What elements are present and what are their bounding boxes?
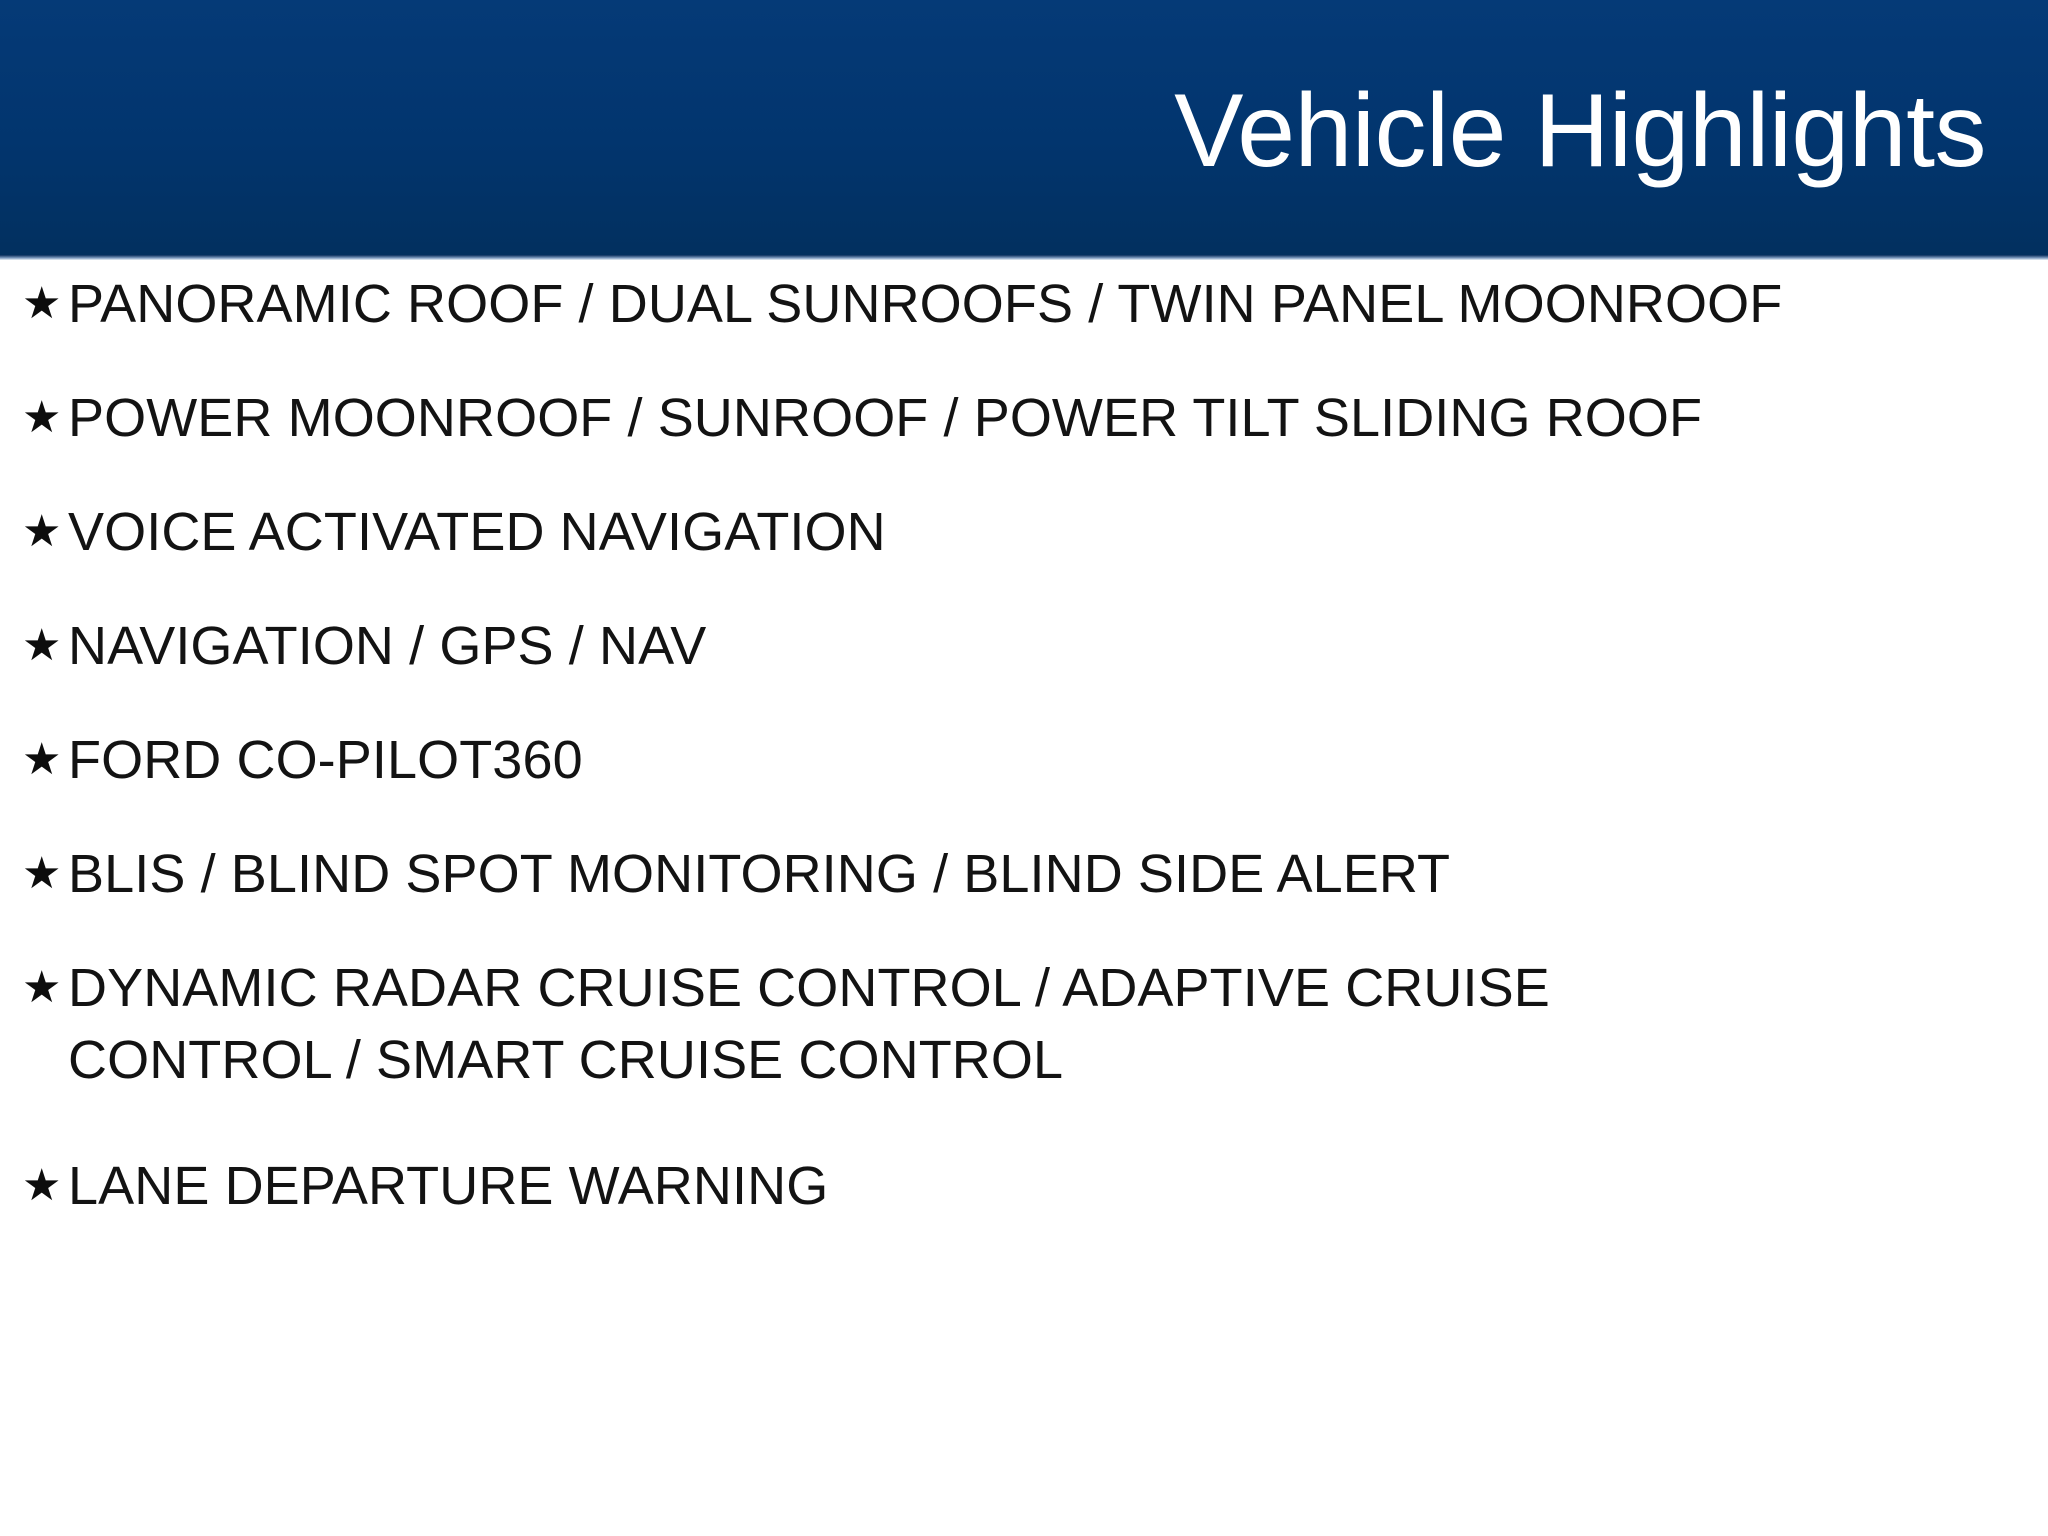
- list-item-label: LANE DEPARTURE WARNING: [68, 1150, 2048, 1222]
- list-item: ★ VOICE ACTIVATED NAVIGATION: [0, 496, 2048, 610]
- vehicle-highlights-list: ★ PANORAMIC ROOF / DUAL SUNROOFS / TWIN …: [0, 268, 2048, 1264]
- list-item: ★ FORD CO-PILOT360: [0, 724, 2048, 838]
- star-bullet-icon: ★: [22, 838, 68, 910]
- list-item-label: PANORAMIC ROOF / DUAL SUNROOFS / TWIN PA…: [68, 268, 2048, 340]
- star-bullet-icon: ★: [22, 724, 68, 796]
- list-item: ★ POWER MOONROOF / SUNROOF / POWER TILT …: [0, 382, 2048, 496]
- star-bullet-icon: ★: [22, 496, 68, 568]
- list-item: ★ BLIS / BLIND SPOT MONITORING / BLIND S…: [0, 838, 2048, 952]
- header-underline-divider: [0, 255, 2048, 260]
- list-item: ★ NAVIGATION / GPS / NAV: [0, 610, 2048, 724]
- list-item-label: POWER MOONROOF / SUNROOF / POWER TILT SL…: [68, 382, 2048, 454]
- list-item: ★ DYNAMIC RADAR CRUISE CONTROL / ADAPTIV…: [0, 952, 2048, 1150]
- star-bullet-icon: ★: [22, 1150, 68, 1222]
- star-bullet-icon: ★: [22, 610, 68, 682]
- star-bullet-icon: ★: [22, 952, 68, 1024]
- list-item: ★ LANE DEPARTURE WARNING: [0, 1150, 2048, 1264]
- list-item-label: FORD CO-PILOT360: [68, 724, 2048, 796]
- vehicle-highlights-slide: Vehicle Highlights ★ PANORAMIC ROOF / DU…: [0, 0, 2048, 1536]
- list-item: ★ PANORAMIC ROOF / DUAL SUNROOFS / TWIN …: [0, 268, 2048, 382]
- star-bullet-icon: ★: [22, 382, 68, 454]
- list-item-label: VOICE ACTIVATED NAVIGATION: [68, 496, 2048, 568]
- page-title: Vehicle Highlights: [1174, 78, 1986, 184]
- list-item-label: BLIS / BLIND SPOT MONITORING / BLIND SID…: [68, 838, 2048, 910]
- star-bullet-icon: ★: [22, 268, 68, 340]
- header-band: Vehicle Highlights: [0, 0, 2048, 255]
- list-item-label: DYNAMIC RADAR CRUISE CONTROL / ADAPTIVE …: [68, 952, 2048, 1096]
- list-item-label: NAVIGATION / GPS / NAV: [68, 610, 2048, 682]
